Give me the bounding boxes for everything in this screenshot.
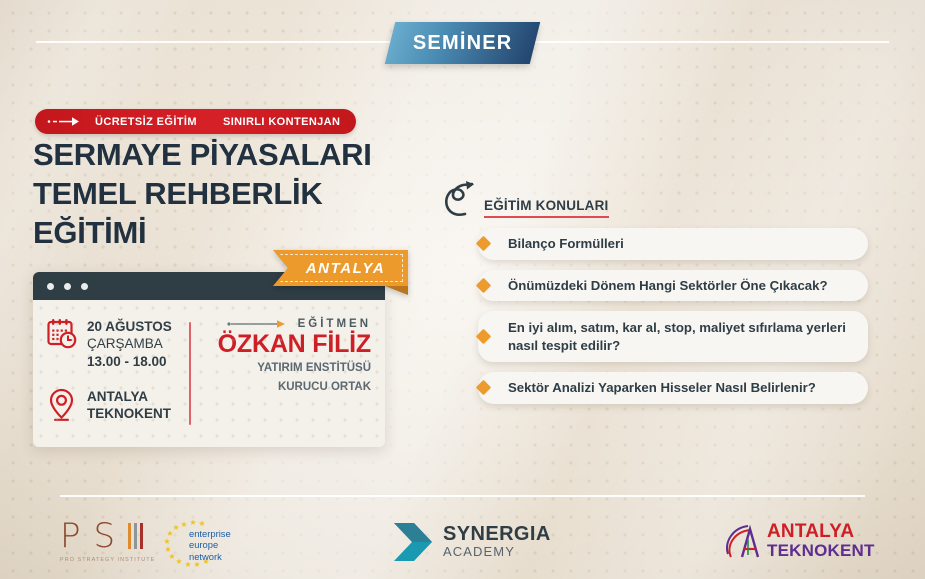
topic-label: Önümüzdeki Dönem Hangi Sektörler Öne Çık…: [508, 277, 828, 295]
seminar-banner-label: SEMİNER: [413, 32, 513, 55]
free-training-label: ÜCRETSİZ EĞİTİM: [95, 116, 197, 128]
title-line-2: TEMEL REHBERLİK: [33, 175, 433, 214]
een-line-1: enterprise: [189, 528, 231, 539]
logo-enterprise-europe-network: ★ ★ ★ ★ ★ ★ ★ ★ ★ ★ ★ ★ enterprise europ…: [163, 519, 231, 571]
diamond-bullet-icon: [476, 278, 492, 294]
topics-heading: EĞİTİM KONULARI: [484, 198, 609, 218]
topic-label: En iyi alım, satım, kar al, stop, maliye…: [508, 319, 854, 354]
window-dot-yellow: [64, 283, 71, 290]
window-dot-red: [47, 283, 54, 290]
logo-psi: P S PRO STRATEGY INSTITUTE: [60, 519, 155, 563]
topic-label: Bilanço Formülleri: [508, 235, 624, 253]
page-title: SERMAYE PİYASALARI TEMEL REHBERLİK EĞİTİ…: [33, 136, 433, 252]
psi-letter-s: S: [94, 519, 116, 553]
ribbon-city-label: ANTALYA: [273, 250, 408, 286]
curved-arrow-icon: [441, 180, 481, 222]
title-line-1: SERMAYE PİYASALARI: [33, 136, 433, 175]
card-dot-texture: [33, 300, 385, 447]
synergia-sub: ACADEMY: [443, 544, 551, 560]
diamond-bullet-icon: [476, 380, 492, 396]
diamond-bullet-icon: [476, 236, 492, 252]
topic-item[interactable]: Bilanço Formülleri: [478, 228, 868, 260]
title-line-3: EĞİTİMİ: [33, 214, 433, 253]
antalya-name: ANTALYA: [767, 522, 875, 541]
een-line-3: network: [189, 551, 231, 562]
seminar-banner: SEMİNER: [385, 22, 540, 64]
card-body: 20 AĞUSTOS ÇARŞAMBA 13.00 - 18.00 ANTALY…: [33, 300, 385, 447]
logo-antalya-teknokent: ANTALYA TEKNOKENT: [722, 521, 875, 561]
arrow-right-icon: [47, 116, 81, 127]
free-training-badge: ÜCRETSİZ EĞİTİM SINIRLI KONTENJAN: [35, 109, 356, 134]
psi-letter-p: P: [60, 519, 81, 553]
poster-canvas: SEMİNER ÜCRETSİZ EĞİTİM SINIRLI KONTENJA…: [0, 0, 925, 579]
een-wordmark: enterprise europe network: [189, 528, 231, 562]
diamond-bullet-icon: [476, 329, 492, 345]
logo-synergia-academy: SYNERGIA ACADEMY: [392, 521, 551, 563]
antalya-teknokent-wordmark: ANTALYA TEKNOKENT: [767, 522, 875, 561]
event-info-card: 20 AĞUSTOS ÇARŞAMBA 13.00 - 18.00 ANTALY…: [33, 272, 385, 447]
city-ribbon: ANTALYA: [273, 250, 408, 286]
window-dot-green: [81, 283, 88, 290]
svg-text:★: ★: [180, 520, 187, 529]
svg-text:★: ★: [189, 519, 196, 527]
svg-text:★: ★: [198, 519, 205, 528]
topics-list: Bilanço Formülleri Önümüzdeki Dönem Hang…: [478, 228, 868, 414]
synergia-arrow-icon: [392, 521, 434, 563]
svg-text:★: ★: [175, 557, 182, 566]
een-line-2: europe: [189, 539, 231, 550]
limited-seats-label: SINIRLI KONTENJAN: [223, 116, 340, 128]
teknokent-sub: TEKNOKENT: [767, 541, 875, 561]
antalya-teknokent-mark-icon: [722, 521, 762, 561]
synergia-wordmark: SYNERGIA ACADEMY: [443, 524, 551, 560]
topic-label: Sektör Analizi Yaparken Hisseler Nasıl B…: [508, 379, 816, 397]
psi-tagline: PRO STRATEGY INSTITUTE: [60, 557, 155, 563]
synergia-name: SYNERGIA: [443, 524, 551, 544]
psi-mark: P S: [60, 519, 143, 553]
topic-item[interactable]: En iyi alım, satım, kar al, stop, maliye…: [478, 311, 868, 362]
footer-logo-row: P S PRO STRATEGY INSTITUTE ★ ★ ★ ★ ★ ★ ★…: [0, 505, 925, 575]
topic-item[interactable]: Sektör Analizi Yaparken Hisseler Nasıl B…: [478, 372, 868, 404]
footer-divider-line: [60, 495, 865, 497]
topic-item[interactable]: Önümüzdeki Dönem Hangi Sektörler Öne Çık…: [478, 270, 868, 302]
psi-bars-icon: [128, 523, 143, 549]
